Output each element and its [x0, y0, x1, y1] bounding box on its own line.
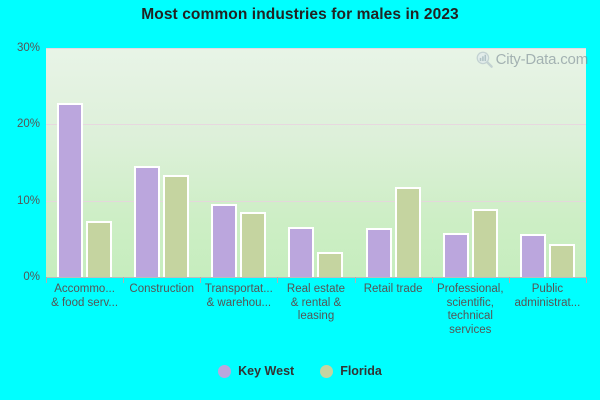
bar-group [509, 48, 586, 277]
legend-swatch-icon [218, 365, 231, 378]
x-axis-category-label: Real estate & rental & leasing [277, 283, 354, 324]
y-axis-tick-label: 0% [0, 271, 40, 283]
magnifier-bar-chart-icon [475, 50, 494, 69]
watermark: City-Data.com [475, 50, 588, 69]
legend-label: Key West [238, 364, 294, 378]
bar [57, 103, 83, 277]
chart-container: Most common industries for males in 2023… [0, 0, 600, 400]
legend-item[interactable]: Key West [218, 364, 294, 378]
bar-group [277, 48, 354, 277]
x-axis-tick [586, 277, 587, 283]
bar [134, 166, 160, 277]
legend-swatch-icon [320, 365, 333, 378]
y-axis-tick-label: 30% [0, 42, 40, 54]
y-axis-tick-label: 20% [0, 118, 40, 130]
legend-item[interactable]: Florida [320, 364, 382, 378]
x-axis-category-label: Retail trade [355, 283, 432, 297]
bar [520, 234, 546, 277]
legend-label: Florida [340, 364, 382, 378]
x-axis-category-label: Public administrat... [509, 283, 586, 310]
plot-area [46, 48, 586, 277]
bar [288, 227, 314, 277]
bar [366, 228, 392, 277]
x-axis-category-label: Accommo... & food serv... [46, 283, 123, 310]
bar-group [46, 48, 123, 277]
bar-group [200, 48, 277, 277]
watermark-text: City-Data.com [496, 51, 588, 68]
bar [163, 175, 189, 277]
x-axis-category-label: Construction [123, 283, 200, 297]
y-axis-tick-label: 10% [0, 195, 40, 207]
bar [240, 212, 266, 277]
bar [211, 204, 237, 277]
bar [317, 252, 343, 277]
bar-group [355, 48, 432, 277]
x-axis-line [46, 277, 586, 278]
chart-title: Most common industries for males in 2023 [0, 6, 600, 24]
bar [549, 244, 575, 277]
bar [395, 187, 421, 277]
x-axis-category-label: Transportat... & warehou... [200, 283, 277, 310]
chart-legend: Key WestFlorida [0, 364, 600, 378]
x-axis-category-label: Professional, scientific, technical serv… [432, 283, 509, 337]
bar [472, 209, 498, 277]
bar [443, 233, 469, 277]
bar [86, 221, 112, 277]
bar-group [123, 48, 200, 277]
bar-group [432, 48, 509, 277]
